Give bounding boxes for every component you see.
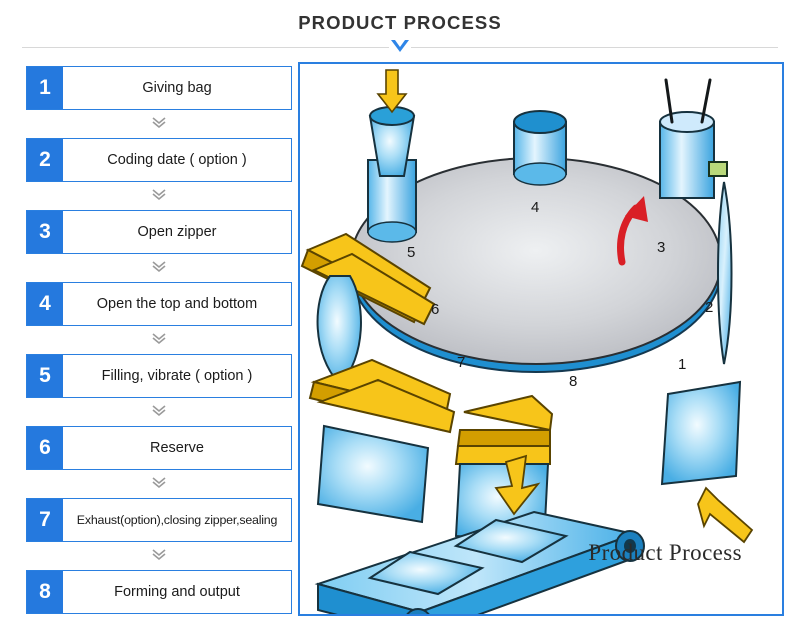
process-step-6[interactable]: 6 Reserve bbox=[26, 426, 292, 470]
step-label: Giving bag bbox=[63, 67, 291, 109]
step-number-badge: 7 bbox=[27, 499, 63, 541]
station-label-7: 7 bbox=[457, 354, 465, 371]
step-label: Filling, vibrate ( option ) bbox=[63, 355, 291, 397]
step-number-badge: 2 bbox=[27, 139, 63, 181]
page-header: PRODUCT PROCESS bbox=[0, 0, 800, 56]
diagram-caption: Product Process bbox=[588, 540, 742, 566]
step-label: Open zipper bbox=[63, 211, 291, 253]
page-title: PRODUCT PROCESS bbox=[0, 12, 800, 34]
process-step-list: 1 Giving bag 2 Coding date ( option ) 3 … bbox=[26, 66, 294, 616]
station-label-5: 5 bbox=[407, 244, 415, 261]
step-connector-arrow-6 bbox=[26, 470, 292, 496]
station-label-8: 8 bbox=[569, 373, 577, 390]
station-label-6: 6 bbox=[431, 301, 439, 318]
step-connector-arrow-5 bbox=[26, 398, 292, 424]
step-connector-arrow-2 bbox=[26, 182, 292, 208]
station-label-3: 3 bbox=[657, 239, 665, 256]
step-connector-arrow-7 bbox=[26, 542, 292, 568]
process-step-7[interactable]: 7 Exhaust(option),closing zipper,sealing bbox=[26, 498, 292, 542]
station-label-2: 2 bbox=[705, 299, 713, 316]
bag-infeed-arrow-icon bbox=[698, 488, 752, 542]
step-number-badge: 3 bbox=[27, 211, 63, 253]
filling-arrow-icon bbox=[378, 70, 406, 112]
step-label: Coding date ( option ) bbox=[63, 139, 291, 181]
station-7-sealing-jaws bbox=[310, 360, 454, 522]
station-5-filling-hopper bbox=[368, 70, 416, 242]
step-connector-arrow-4 bbox=[26, 326, 292, 352]
process-step-2[interactable]: 2 Coding date ( option ) bbox=[26, 138, 292, 182]
process-step-5[interactable]: 5 Filling, vibrate ( option ) bbox=[26, 354, 292, 398]
process-step-1[interactable]: 1 Giving bag bbox=[26, 66, 292, 110]
station-3-zipper-opener bbox=[660, 80, 727, 198]
chevron-down-icon bbox=[389, 38, 411, 56]
step-connector-arrow-3 bbox=[26, 254, 292, 280]
step-label: Reserve bbox=[63, 427, 291, 469]
step-number-badge: 6 bbox=[27, 427, 63, 469]
sensor-indicator bbox=[709, 162, 727, 176]
station-label-4: 4 bbox=[531, 199, 539, 216]
step-label: Open the top and bottom bbox=[63, 283, 291, 325]
process-step-4[interactable]: 4 Open the top and bottom bbox=[26, 282, 292, 326]
step-number-badge: 1 bbox=[27, 67, 63, 109]
product-process-page: PRODUCT PROCESS 1 Giving bag 2 Coding da… bbox=[0, 0, 800, 633]
station-4-opener bbox=[514, 111, 566, 185]
machine-illustration-panel: 1 2 3 4 5 6 7 8 Product Process bbox=[298, 62, 784, 616]
step-connector-arrow-1 bbox=[26, 110, 292, 136]
step-number-badge: 5 bbox=[27, 355, 63, 397]
step-label: Forming and output bbox=[63, 571, 291, 613]
step-number-badge: 8 bbox=[27, 571, 63, 613]
process-step-3[interactable]: 3 Open zipper bbox=[26, 210, 292, 254]
station-label-1: 1 bbox=[678, 356, 686, 373]
step-number-badge: 4 bbox=[27, 283, 63, 325]
step-label: Exhaust(option),closing zipper,sealing bbox=[63, 499, 291, 541]
process-step-8[interactable]: 8 Forming and output bbox=[26, 570, 292, 614]
rotary-packing-machine-diagram: 1 2 3 4 5 6 7 8 bbox=[300, 64, 782, 614]
